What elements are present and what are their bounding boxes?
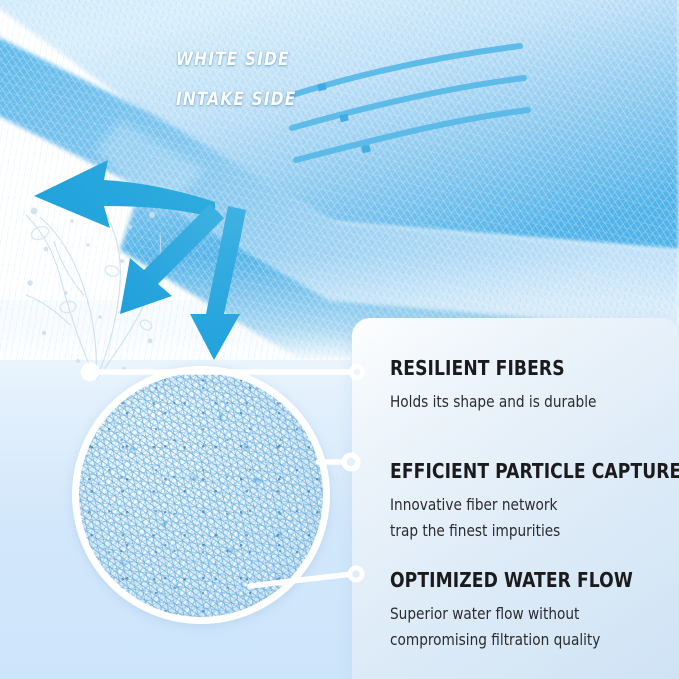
arrow-up-left bbox=[34, 160, 215, 228]
infographic-canvas: WHITE SIDE INTAKE SIDE bbox=[0, 0, 679, 679]
magnifier-vignette bbox=[79, 373, 323, 617]
feature-line: trap the finest impurities bbox=[390, 518, 658, 544]
fiber-closeup-content bbox=[79, 373, 323, 617]
feature-line: Innovative fiber network bbox=[390, 492, 658, 518]
feature-line: compromising filtration quality bbox=[390, 627, 658, 653]
feature-title: EFFICIENT PARTICLE CAPTURE bbox=[390, 459, 652, 483]
feature-efficient-particle-capture: EFFICIENT PARTICLE CAPTURE Innovative fi… bbox=[390, 459, 672, 544]
fiber-closeup-magnifier bbox=[72, 366, 330, 624]
arrow-down-left bbox=[120, 204, 224, 314]
feature-optimized-water-flow: OPTIMIZED WATER FLOW Superior water flow… bbox=[390, 568, 672, 653]
feature-resilient-fibers: RESILIENT FIBERS Holds its shape and is … bbox=[390, 356, 672, 415]
feature-line: Holds its shape and is durable bbox=[390, 389, 658, 415]
feature-title: OPTIMIZED WATER FLOW bbox=[390, 568, 652, 592]
feature-line: Superior water flow without bbox=[390, 601, 658, 627]
feature-title: RESILIENT FIBERS bbox=[390, 356, 652, 380]
features-panel: RESILIENT FIBERS Holds its shape and is … bbox=[352, 318, 679, 679]
